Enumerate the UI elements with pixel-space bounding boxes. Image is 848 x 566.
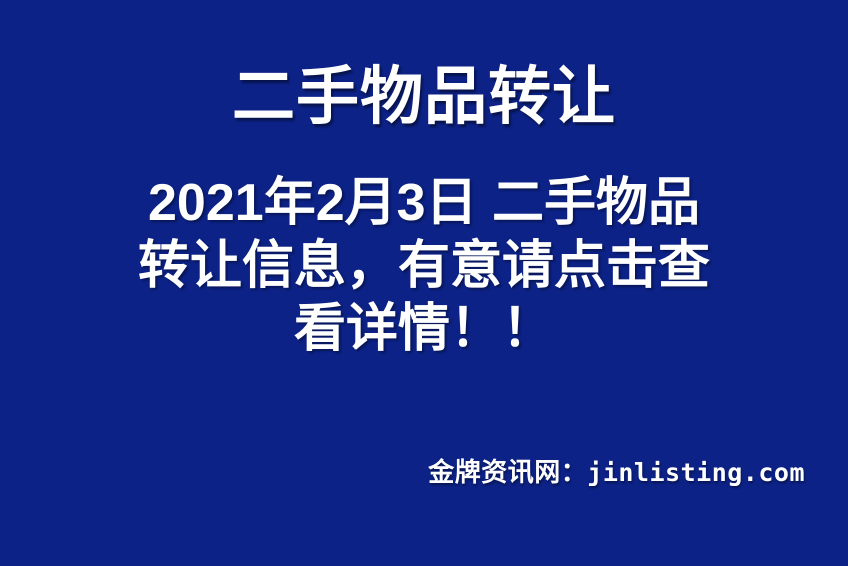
poster-canvas: 二手物品转让 2021年2月3日 二手物品 转让信息，有意请点击查 看详情！！ … bbox=[0, 0, 848, 566]
body-line-1: 2021年2月3日 二手物品 bbox=[60, 172, 788, 235]
page-title: 二手物品转让 bbox=[0, 60, 848, 134]
site-url: jinlisting.com bbox=[587, 458, 805, 487]
body-line-2: 转让信息，有意请点击查 bbox=[60, 235, 788, 298]
body-copy-block: 2021年2月3日 二手物品 转让信息，有意请点击查 看详情！！ bbox=[60, 172, 788, 361]
site-brand-label: 金牌资讯网： bbox=[428, 457, 587, 487]
site-credit: 金牌资讯网：jinlisting.com bbox=[428, 452, 805, 489]
body-line-3: 看详情！！ bbox=[60, 298, 788, 361]
